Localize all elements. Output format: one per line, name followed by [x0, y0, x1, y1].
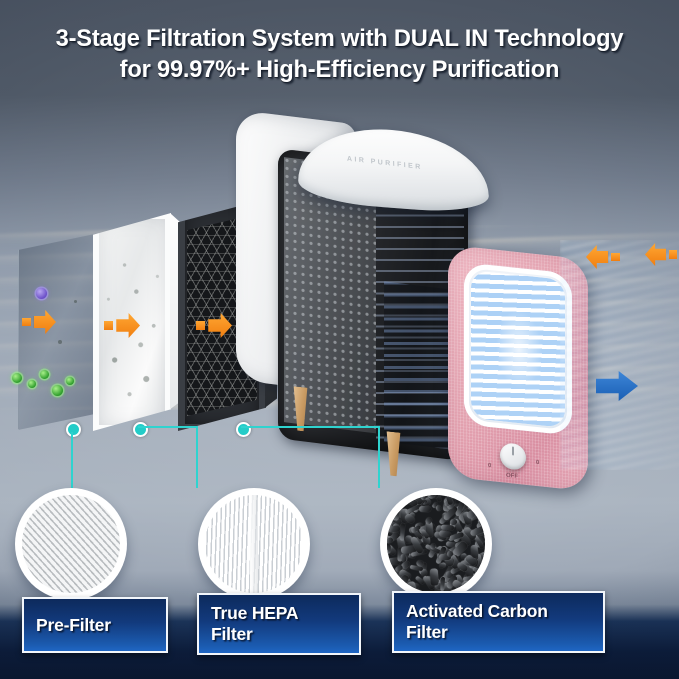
callout-dot-hepa: [133, 422, 148, 437]
brand-mark: AIR PURIFIER: [347, 156, 423, 172]
arrow-head: [586, 245, 608, 269]
carbon-pellet: [430, 568, 439, 585]
bacteria-particle: [28, 380, 36, 388]
knob-tick-off: OFF: [506, 473, 518, 480]
internal-fan-housing: [384, 281, 458, 450]
title-line-2: for 99.97%+ High-Efficiency Purification: [12, 54, 667, 85]
dust-particle: [74, 300, 77, 303]
control-knob[interactable]: [500, 442, 526, 471]
callout-line-hepa-h: [138, 426, 198, 428]
callout-dot-pre: [66, 422, 81, 437]
plate-face: [604, 142, 676, 332]
arrow-head: [116, 313, 140, 338]
arrow-tail: [669, 250, 677, 258]
carbon-pellet: [419, 506, 431, 512]
callout-line-carbon-v: [378, 426, 380, 488]
bacteria-particle: [52, 385, 63, 396]
sample-texture: [22, 495, 120, 593]
sample-texture: [205, 495, 303, 593]
bacteria-particle: [40, 370, 49, 379]
carbon-pellet: [415, 559, 423, 566]
label-text: Activated CarbonFilter: [406, 601, 548, 643]
arrow-tail: [22, 318, 31, 327]
true-hepa-sample: [198, 488, 310, 600]
callout-line-hepa-v: [196, 426, 198, 488]
arrow-head: [208, 313, 232, 338]
carbon-pellet: [387, 526, 400, 533]
knob-tick-left: 0: [488, 463, 491, 469]
arrow-tail: [104, 321, 113, 330]
page-title: 3-Stage Filtration System with DUAL IN T…: [12, 23, 667, 85]
airflow-arrow-in: [586, 245, 620, 269]
plate-edge: [523, 140, 535, 340]
airflow-arrow-in: [104, 313, 140, 338]
label-text: True HEPAFilter: [211, 603, 298, 645]
arrow-tail: [611, 253, 620, 262]
airflow-arrow-out: [596, 371, 638, 401]
title-line-1: 3-Stage Filtration System with DUAL IN T…: [56, 25, 624, 52]
plate-face: [534, 140, 610, 340]
true-hepa-plate-right: [534, 140, 610, 340]
pre-filter-sample: [15, 488, 127, 600]
carbon-pellet: [400, 523, 405, 540]
airflow-arrow-in: [22, 310, 56, 334]
knob-tick-right: 0: [536, 460, 539, 466]
arrow-head: [34, 310, 56, 334]
callout-line-carbon-h: [241, 426, 380, 428]
sample-texture: [387, 495, 485, 593]
airflow-arrow-in: [196, 313, 232, 338]
carbon-pellet: [387, 544, 390, 554]
virus-particle: [36, 288, 47, 299]
label-pre-filter: Pre-Filter: [22, 597, 168, 653]
activated-carbon-sample: [380, 488, 492, 600]
pre-filter-plate-right: [604, 142, 676, 332]
label-activated-carbon: Activated CarbonFilter: [392, 591, 605, 653]
airflow-arrow-in: [645, 243, 677, 266]
arrow-head: [596, 371, 638, 401]
label-true-hepa: True HEPAFilter: [197, 593, 361, 655]
arrow-tail: [196, 321, 205, 330]
label-text: Pre-Filter: [36, 615, 111, 636]
bacteria-particle: [66, 377, 74, 385]
plate-edge: [461, 143, 473, 323]
dust-particle: [58, 340, 62, 344]
arrow-head: [645, 243, 666, 266]
callout-dot-carbon: [236, 422, 251, 437]
bacteria-particle: [12, 373, 22, 383]
callout-line-pre: [71, 432, 73, 488]
infographic-canvas: 3-Stage Filtration System with DUAL IN T…: [0, 0, 679, 679]
carbon-pellet: [449, 518, 457, 525]
